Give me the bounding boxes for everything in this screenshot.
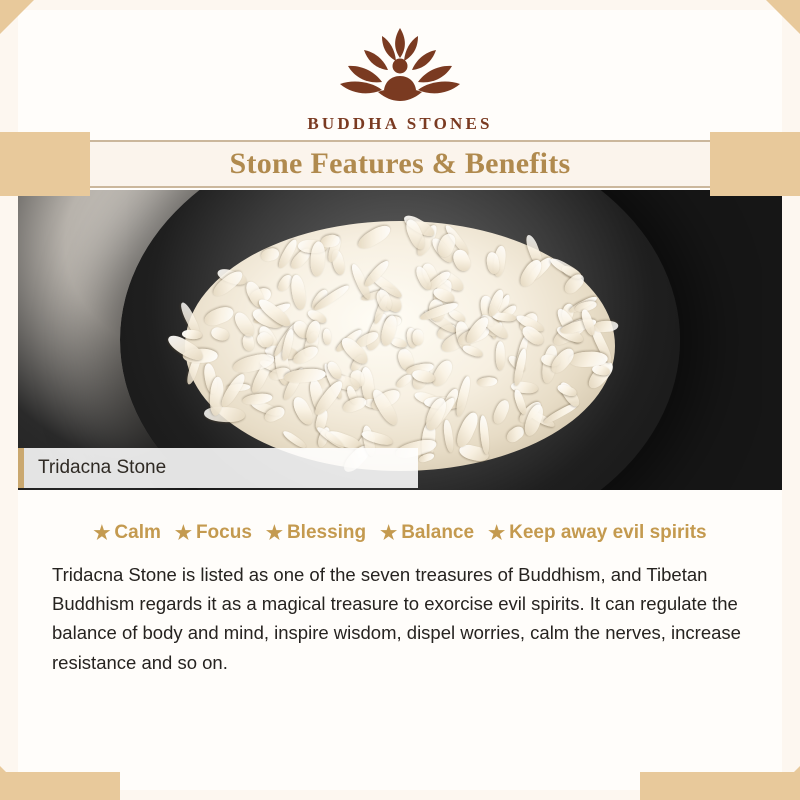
stone-chip: [412, 330, 423, 346]
brand-name: BUDDHA STONES: [0, 114, 800, 134]
benefit-item: ★Balance: [380, 522, 474, 544]
content-block: ★Calm★Focus★Blessing★Balance★Keep away e…: [18, 500, 782, 750]
stone-chip: [496, 341, 505, 370]
benefit-label: Blessing: [287, 522, 366, 544]
benefit-label: Keep away evil spirits: [509, 522, 707, 544]
lotus-meditation-figure-icon: [330, 22, 470, 108]
photo-caption-label: Tridacna Stone: [38, 457, 166, 479]
section-banner: Stone Features & Benefits: [90, 140, 710, 188]
star-icon: ★: [380, 524, 397, 543]
banner-side-right: [710, 132, 800, 196]
benefit-label: Calm: [114, 522, 160, 544]
banner-side-left: [0, 132, 90, 196]
star-icon: ★: [175, 524, 192, 543]
bottom-ornament-right: [640, 772, 800, 800]
bottom-ornament-left: [0, 772, 120, 800]
benefit-item: ★Blessing: [266, 522, 366, 544]
promo-page: BUDDHA STONES Stone Features & Benefits …: [0, 0, 800, 800]
page-title: Stone Features & Benefits: [229, 147, 570, 181]
star-icon: ★: [93, 524, 110, 543]
description-paragraph: Tridacna Stone is listed as one of the s…: [52, 560, 748, 677]
photo-caption-bar: Tridacna Stone: [18, 448, 418, 488]
benefit-item: ★Calm: [93, 522, 161, 544]
stone-chip: [182, 329, 202, 339]
star-icon: ★: [266, 524, 283, 543]
product-photo: [18, 190, 782, 490]
caption-accent-bar: [18, 448, 24, 488]
benefit-item: ★Keep away evil spirits: [488, 522, 707, 544]
benefit-label: Balance: [401, 522, 474, 544]
benefit-label: Focus: [196, 522, 252, 544]
brand-logo: BUDDHA STONES: [0, 22, 800, 134]
star-icon: ★: [488, 524, 505, 543]
benefit-item: ★Focus: [175, 522, 252, 544]
benefits-list: ★Calm★Focus★Blessing★Balance★Keep away e…: [18, 500, 782, 544]
